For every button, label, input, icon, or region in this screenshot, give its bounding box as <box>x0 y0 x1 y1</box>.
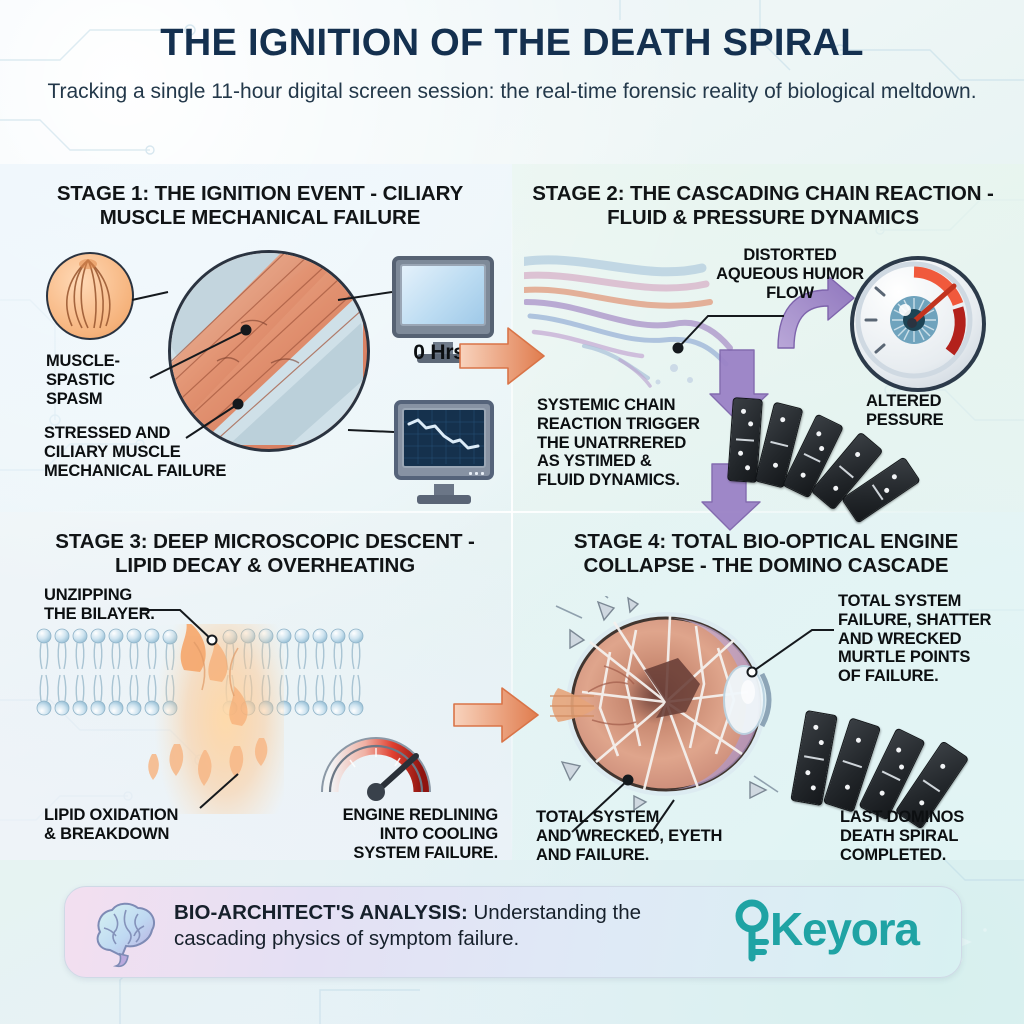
callout-engine-redlining: ENGINE REDLINING INTO COOLING SYSTEM FAI… <box>286 806 498 862</box>
page-subtitle: Tracking a single 11-hour digital screen… <box>0 78 1024 105</box>
infographic-poster: THE IGNITION OF THE DEATH SPIRAL Trackin… <box>0 0 1024 1024</box>
brain-icon <box>92 898 166 968</box>
callout-unzipping-bilayer: UNZIPPING THE BILAYER. <box>44 586 214 624</box>
engine-redline-gauge <box>320 726 436 806</box>
callout-lipid-oxidation: LIPID OXIDATION & BREAKDOWN <box>44 806 284 844</box>
stage-2-heading: STAGE 2: THE CASCADING CHAIN REACTION - … <box>528 182 998 230</box>
lipid-bilayer-illustration <box>34 624 364 814</box>
shattered-eye-illustration <box>548 596 798 812</box>
callout-distorted-aqueous-humor: DISTORTED AQUEOUS HUMOR FLOW <box>680 246 900 302</box>
ciliary-muscle-icon <box>46 252 134 340</box>
keyora-logo[interactable]: Keyora <box>726 896 942 966</box>
footer-analysis-text: BIO-ARCHITECT'S ANALYSIS: Understanding … <box>174 900 674 952</box>
page-title: THE IGNITION OF THE DEATH SPIRAL <box>0 24 1024 64</box>
callout-muscle-spastic-spasm: MUSCLE- SPASTIC SPASM <box>46 352 166 408</box>
callout-total-system-failure-shatter: TOTAL SYSTEM FAILURE, SHATTER AND WRECKE… <box>838 592 1016 686</box>
arrow-stage3-to-stage4 <box>452 684 542 746</box>
stage-4-heading: STAGE 4: TOTAL BIO-OPTICAL ENGINE COLLAP… <box>532 530 1000 578</box>
logo-wordmark: Keyora <box>770 902 919 956</box>
callout-stressed-ciliary-muscle: STRESSED AND CILIARY MUSCLE MECHANICAL F… <box>44 424 274 480</box>
callout-altered-pressure: ALTERED PESSURE <box>866 392 1016 430</box>
vertical-divider <box>511 168 513 868</box>
stage-1-heading: STAGE 1: THE IGNITION EVENT - CILIARY MU… <box>34 182 486 230</box>
callout-total-system-wrecked: TOTAL SYSTEM AND WRECKED, EYETH AND FAIL… <box>536 808 806 864</box>
monitor-screen-decline <box>394 400 494 504</box>
ciliary-muscle-magnified <box>168 250 370 452</box>
footer-analysis-label: BIO-ARCHITECT'S ANALYSIS: <box>174 901 468 924</box>
header: THE IGNITION OF THE DEATH SPIRAL Trackin… <box>0 24 1024 105</box>
stage-3-heading: STAGE 3: DEEP MICROSCOPIC DESCENT - LIPI… <box>30 530 500 578</box>
callout-last-dominos: LAST DOMINOS DEATH SPIRAL COMPLETED. <box>840 808 1020 864</box>
callout-systemic-chain-reaction: SYSTEMIC CHAIN REACTION TRIGGER THE UNAT… <box>537 396 747 490</box>
